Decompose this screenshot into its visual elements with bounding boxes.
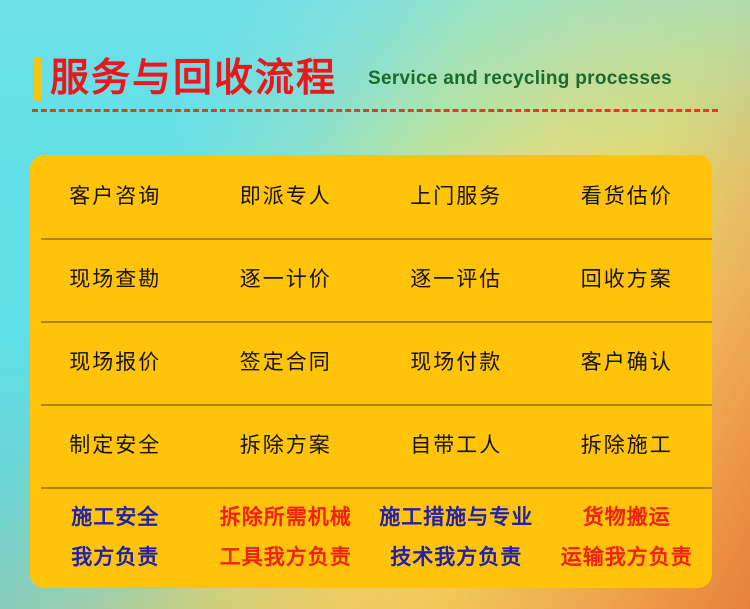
process-step: 上门服务 xyxy=(371,182,542,212)
process-step: 逐一评估 xyxy=(371,265,542,295)
responsibility-item: 拆除所需机械 工具我方负责 xyxy=(201,498,372,578)
process-step: 回收方案 xyxy=(542,265,713,295)
responsibility-line-2: 技术我方负责 xyxy=(371,538,542,578)
responsibility-row: 施工安全 我方负责 拆除所需机械 工具我方负责 施工措施与专业 技术我方负责 货… xyxy=(30,487,712,588)
responsibility-line-2: 工具我方负责 xyxy=(201,538,372,578)
responsibility-line-1: 施工安全 xyxy=(30,498,201,538)
title-accent-bar xyxy=(33,57,41,101)
process-step: 现场报价 xyxy=(30,348,201,378)
table-row: 客户咨询 即派专人 上门服务 看货估价 xyxy=(30,155,712,238)
process-step: 现场查勘 xyxy=(30,265,201,295)
responsibility-line-2: 运输我方负责 xyxy=(542,538,713,578)
process-step: 看货估价 xyxy=(542,182,713,212)
process-step: 制定安全 xyxy=(30,431,201,461)
table-row: 现场报价 签定合同 现场付款 客户确认 xyxy=(30,321,712,404)
process-step: 拆除施工 xyxy=(542,431,713,461)
page-title: 服务与回收流程 xyxy=(50,54,337,104)
responsibility-line-1: 货物搬运 xyxy=(542,498,713,538)
process-step: 现场付款 xyxy=(371,348,542,378)
page-header: 服务与回收流程 Service and recycling processes xyxy=(0,0,750,118)
process-step: 客户确认 xyxy=(542,348,713,378)
process-step: 逐一计价 xyxy=(201,265,372,295)
responsibility-line-2: 我方负责 xyxy=(30,538,201,578)
page-subtitle: Service and recycling processes xyxy=(368,66,672,92)
process-step: 即派专人 xyxy=(201,182,372,212)
table-row: 制定安全 拆除方案 自带工人 拆除施工 xyxy=(30,404,712,487)
process-step: 拆除方案 xyxy=(201,431,372,461)
process-step: 客户咨询 xyxy=(30,182,201,212)
process-table-card: 客户咨询 即派专人 上门服务 看货估价 现场查勘 逐一计价 逐一评估 回收方案 … xyxy=(30,155,712,588)
process-step: 自带工人 xyxy=(371,431,542,461)
responsibility-item: 施工措施与专业 技术我方负责 xyxy=(371,498,542,578)
table-row: 现场查勘 逐一计价 逐一评估 回收方案 xyxy=(30,238,712,321)
process-step: 签定合同 xyxy=(201,348,372,378)
responsibility-line-1: 拆除所需机械 xyxy=(201,498,372,538)
responsibility-item: 施工安全 我方负责 xyxy=(30,498,201,578)
responsibility-item: 货物搬运 运输我方负责 xyxy=(542,498,713,578)
responsibility-line-1: 施工措施与专业 xyxy=(371,498,542,538)
header-divider xyxy=(32,109,718,112)
